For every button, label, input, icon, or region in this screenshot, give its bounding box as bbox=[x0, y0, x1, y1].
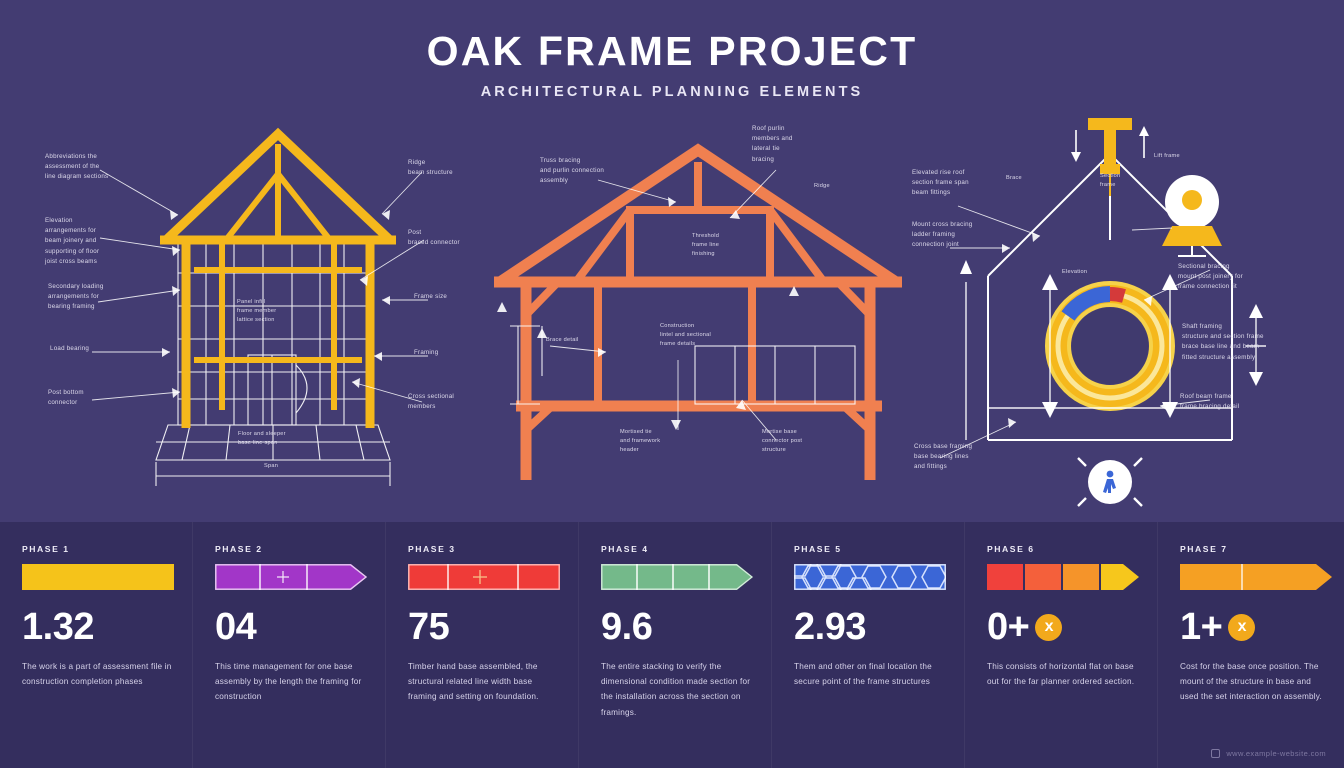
annotation-rt-6: Elevation bbox=[1062, 268, 1114, 277]
annotation-mid-1: Truss bracing and purlin connection asse… bbox=[540, 156, 636, 187]
annotation-mid-6: Construction lintel and sectional frame … bbox=[660, 322, 738, 350]
copyright-icon bbox=[1211, 749, 1220, 758]
phase-description-3: Timber hand base assembled, the structur… bbox=[408, 659, 560, 705]
annotation-mid-5: Brace detail bbox=[546, 336, 602, 345]
poster-header: OAK FRAME PROJECT ARCHITECTURAL PLANNING… bbox=[0, 28, 1344, 100]
phase-description-6: This consists of horizontal flat on base… bbox=[987, 659, 1139, 689]
phase-card-1[interactable]: PHASE 1 1.32 The work is a part of asses… bbox=[0, 522, 192, 768]
phase-bar-7 bbox=[1180, 564, 1332, 590]
phase-card-5[interactable]: PHASE 5 bbox=[771, 522, 964, 768]
annotation-mid-3: Ridge bbox=[814, 182, 858, 191]
page-title: OAK FRAME PROJECT bbox=[0, 28, 1344, 75]
phase-value-4: 9.6 bbox=[601, 608, 753, 646]
diagram-schematic-outline-systems: Elevated rise roof section frame span be… bbox=[910, 110, 1330, 510]
phase-label-4: PHASE 4 bbox=[601, 544, 753, 554]
worker-badge-icon bbox=[1078, 458, 1142, 506]
phase-strip: PHASE 1 1.32 The work is a part of asses… bbox=[0, 522, 1344, 768]
blueprint-grid-lines bbox=[156, 243, 390, 486]
annotation-mid-4: Threshold frame line finishing bbox=[692, 232, 752, 260]
phase-value-6: 0+ x bbox=[987, 608, 1139, 646]
phase-bar-6 bbox=[987, 564, 1139, 590]
annotation-center-1: Panel infill frame member lattice sectio… bbox=[237, 298, 313, 326]
phase-label-6: PHASE 6 bbox=[987, 544, 1139, 554]
phase-value-text-2: 04 bbox=[215, 608, 256, 646]
annotation-mid-2: Roof purlin members and lateral tie brac… bbox=[752, 124, 836, 165]
phase-card-3[interactable]: PHASE 3 75 Timber hand bbox=[385, 522, 578, 768]
phase-value-text-6: 0+ bbox=[987, 608, 1029, 646]
annotation-right-3: Frame size bbox=[414, 292, 490, 302]
phase-bar-1 bbox=[22, 564, 174, 590]
phase-value-7: 1+ x bbox=[1180, 608, 1332, 646]
phase-label-1: PHASE 1 bbox=[22, 544, 174, 554]
phase-description-5: Them and other on final location the sec… bbox=[794, 659, 946, 689]
phase-description-4: The entire stacking to verify the dimens… bbox=[601, 659, 753, 720]
phase-description-2: This time management for one base assemb… bbox=[215, 659, 367, 705]
phase-bar-5 bbox=[794, 564, 946, 590]
phase-value-1: 1.32 bbox=[22, 608, 174, 646]
watermark-text: www.example-website.com bbox=[1226, 749, 1326, 758]
diagram-front-elevation-gold-frame: Abbreviations the assessment of the line… bbox=[30, 110, 490, 510]
phase-description-1: The work is a part of assessment file in… bbox=[22, 659, 174, 689]
annotation-left-2: Elevation arrangements for beam joinery … bbox=[45, 216, 167, 267]
annotation-mid-8: Mortise base connector post structure bbox=[762, 428, 846, 456]
phase-value-3: 75 bbox=[408, 608, 560, 646]
close-icon[interactable]: x bbox=[1228, 614, 1255, 641]
annotation-rt-8: Shaft framing structure and section fram… bbox=[1182, 322, 1290, 363]
phase-value-text-3: 75 bbox=[408, 608, 449, 646]
watermark: www.example-website.com bbox=[1211, 749, 1326, 758]
annotation-right-2: Post braced connector bbox=[408, 228, 490, 248]
close-icon[interactable]: x bbox=[1035, 614, 1062, 641]
phase-value-text-4: 9.6 bbox=[601, 608, 652, 646]
annotation-rt-3: Brace bbox=[1006, 174, 1050, 183]
annotation-mid-7: Mortised tie and framework header bbox=[620, 428, 704, 456]
annotation-rt-5: Lift frame bbox=[1154, 152, 1206, 161]
phase-bar-2 bbox=[215, 564, 367, 590]
annotation-right-4: Framing bbox=[414, 348, 490, 358]
page-subtitle: ARCHITECTURAL PLANNING ELEMENTS bbox=[0, 84, 1344, 100]
lamp-icon bbox=[1162, 175, 1222, 256]
phase-label-3: PHASE 3 bbox=[408, 544, 560, 554]
phase-label-2: PHASE 2 bbox=[215, 544, 367, 554]
annotation-bottom-2: Span bbox=[264, 462, 314, 471]
annotation-bottom-1: Floor and sleeper base line span bbox=[238, 430, 324, 448]
annotation-rt-4: Section frame bbox=[1100, 172, 1152, 190]
phase-card-2[interactable]: PHASE 2 04 This time m bbox=[192, 522, 385, 768]
annotation-left-1: Abbreviations the assessment of the line… bbox=[45, 152, 165, 183]
annotation-rt-9: Roof beam frame frame bracing detail bbox=[1180, 392, 1282, 412]
phase-description-7: Cost for the base once position. The mou… bbox=[1180, 659, 1332, 705]
phase-bar-3 bbox=[408, 564, 560, 590]
annotation-right-1: Ridge beam structure bbox=[408, 158, 490, 178]
phase-card-6[interactable]: PHASE 6 0+ x This consists of horizontal… bbox=[964, 522, 1157, 768]
annotation-rt-1: Elevated rise roof section frame span be… bbox=[912, 168, 996, 199]
phase-value-2: 04 bbox=[215, 608, 367, 646]
annotation-left-4: Load bearing bbox=[50, 344, 150, 354]
phase-value-5: 2.93 bbox=[794, 608, 946, 646]
phase-label-5: PHASE 5 bbox=[794, 544, 946, 554]
timber-frame-orange-secondary bbox=[526, 162, 870, 430]
diagram-row: Abbreviations the assessment of the line… bbox=[0, 110, 1344, 510]
annotation-rt-10: Cross base framing base bearing lines an… bbox=[914, 442, 1006, 473]
phase-value-text-1: 1.32 bbox=[22, 608, 94, 646]
phase-bar-4 bbox=[601, 564, 753, 590]
annotation-rt-7: Sectional bracing mount post joinery for… bbox=[1178, 262, 1286, 293]
annotation-left-5: Post bottom connector bbox=[48, 388, 148, 408]
phase-value-text-7: 1+ bbox=[1180, 608, 1222, 646]
phase-card-4[interactable]: PHASE 4 9.6 The entire stacking to verif… bbox=[578, 522, 771, 768]
annotation-rt-2: Mount cross bracing ladder framing conne… bbox=[912, 220, 994, 251]
poster-canvas: OAK FRAME PROJECT ARCHITECTURAL PLANNING… bbox=[0, 0, 1344, 768]
donut-ring-chart bbox=[1058, 294, 1162, 398]
phase-label-7: PHASE 7 bbox=[1180, 544, 1332, 554]
phase-value-text-5: 2.93 bbox=[794, 608, 866, 646]
phase-card-7[interactable]: PHASE 7 1+ x Cost for the base once posi… bbox=[1157, 522, 1344, 768]
diagram-section-elevation-orange-frame: Truss bracing and purlin connection asse… bbox=[480, 110, 920, 510]
annotation-right-5: Cross sectional members bbox=[408, 392, 490, 412]
annotation-left-3: Secondary loading arrangements for beari… bbox=[48, 282, 166, 313]
